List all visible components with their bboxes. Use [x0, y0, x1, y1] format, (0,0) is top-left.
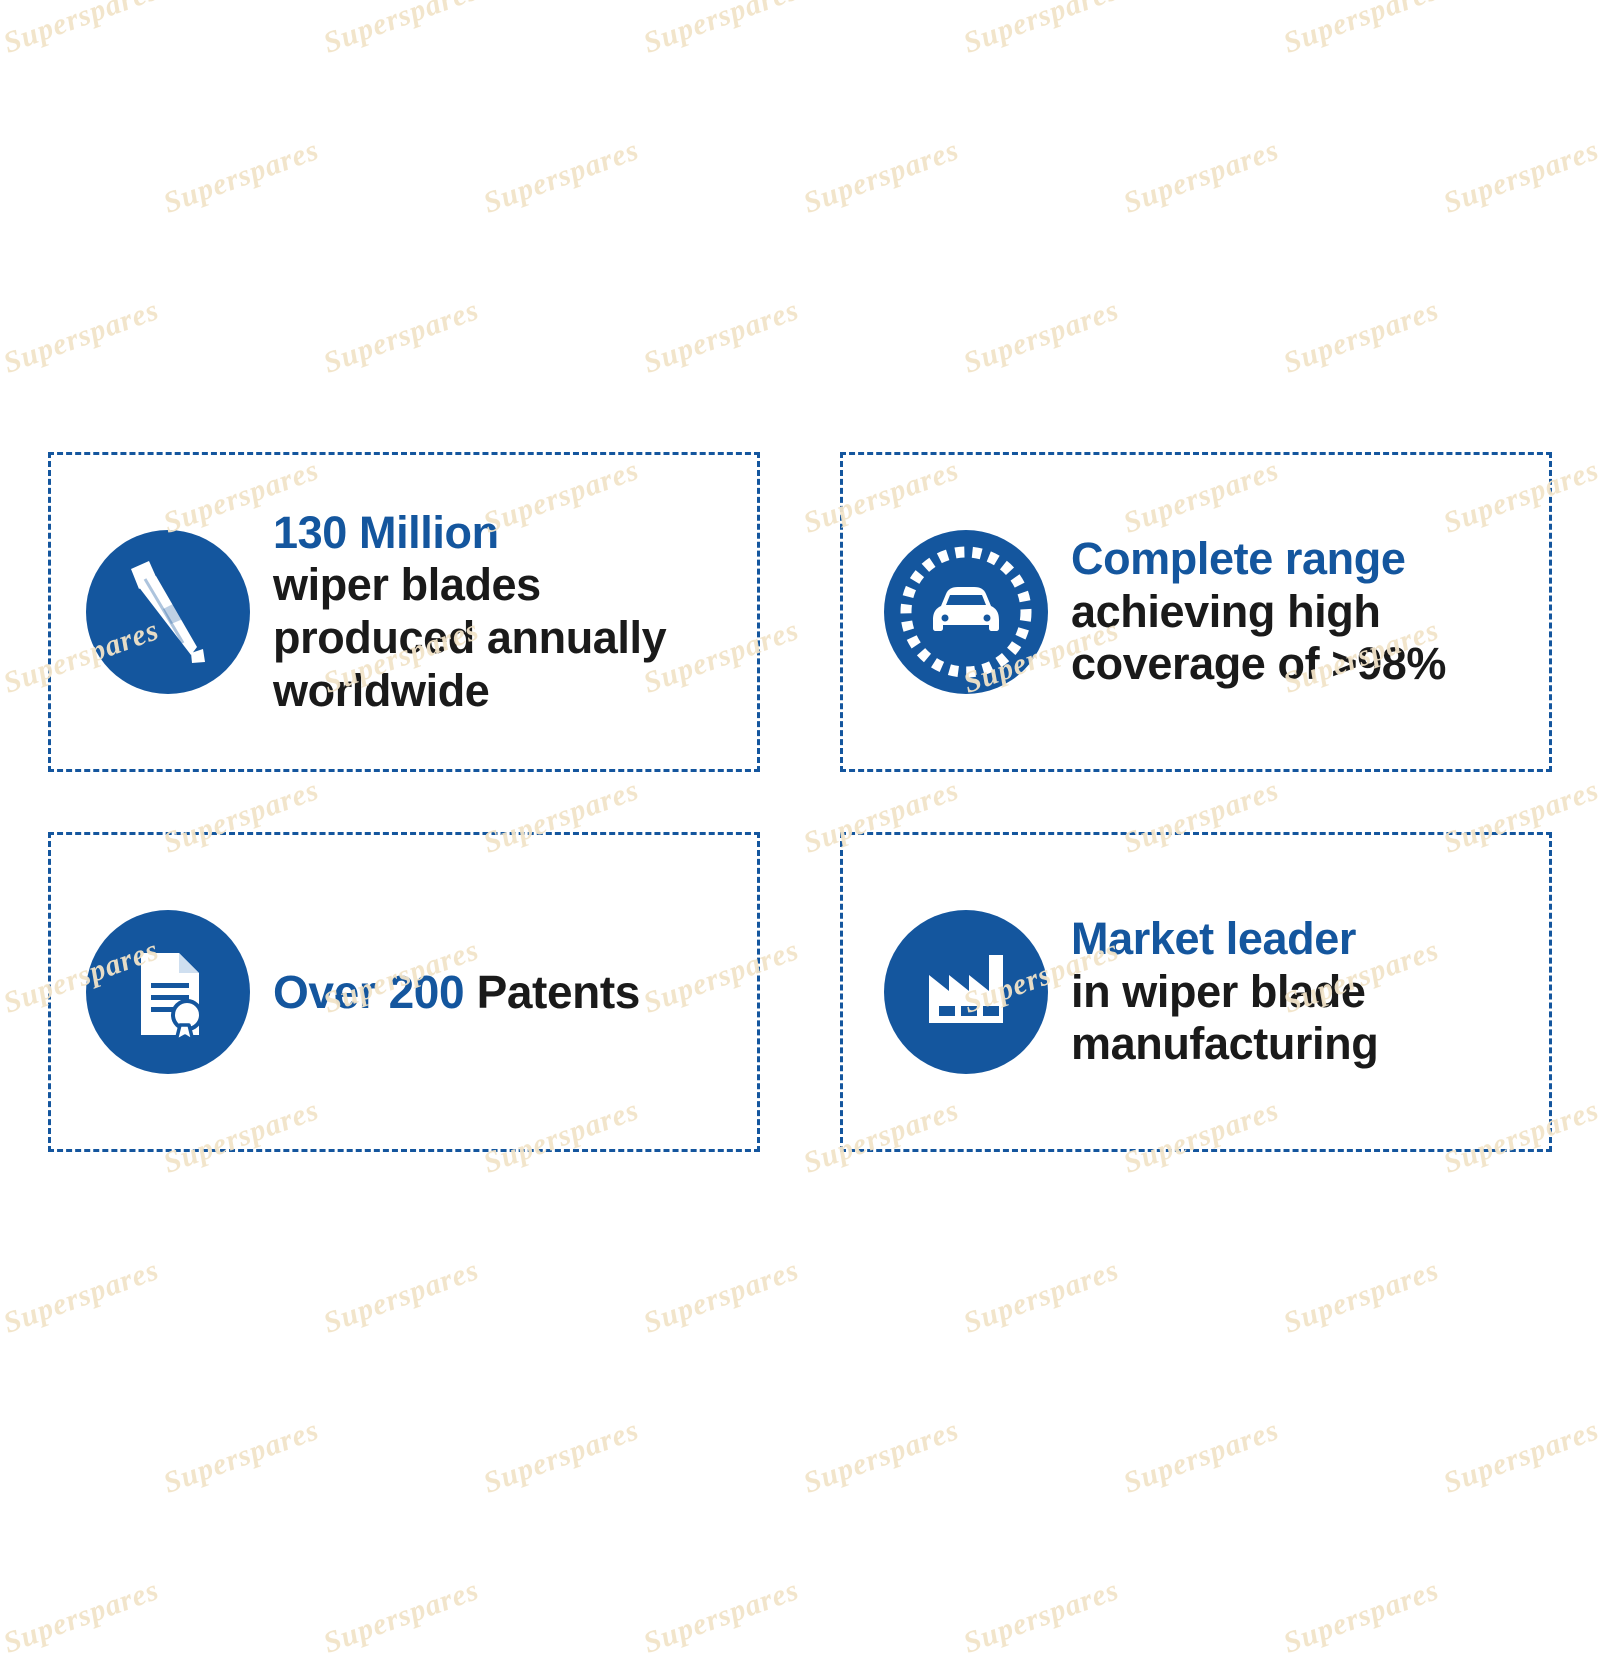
feature-line-1: in wiper blade — [1071, 966, 1365, 1017]
watermark-text: Superspares — [319, 0, 484, 61]
watermark-text: Superspares — [639, 0, 804, 61]
watermark-text: Superspares — [1279, 0, 1444, 61]
watermark-text: Superspares — [0, 1253, 164, 1341]
feature-card-grid: 130 Million wiper blades produced annual… — [48, 452, 1552, 1152]
watermark-text: Superspares — [0, 1093, 4, 1181]
watermark-text: Superspares — [639, 1573, 804, 1661]
watermark-text: Superspares — [1279, 1573, 1444, 1661]
watermark-text: Superspares — [0, 133, 4, 221]
feature-card-text: Complete range achieving high coverage o… — [1055, 533, 1531, 691]
feature-card-patents: Over 200 Patents — [48, 832, 760, 1152]
watermark-text: Superspares — [1119, 133, 1284, 221]
watermark-text: Superspares — [159, 133, 324, 221]
wiper-blade-icon — [79, 523, 257, 701]
feature-card-text: Over 200 Patents — [257, 966, 739, 1019]
watermark-text: Superspares — [1119, 1413, 1284, 1501]
watermark-text: Superspares — [959, 0, 1124, 61]
feature-line-2: manufacturing — [1071, 1018, 1378, 1069]
patent-document-icon — [79, 903, 257, 1081]
feature-highlight: Over 200 — [273, 966, 464, 1018]
feature-card-text: 130 Million wiper blades produced annual… — [257, 507, 739, 718]
watermark-text: Superspares — [0, 0, 164, 61]
watermark-text: Superspares — [639, 293, 804, 381]
feature-line-2: coverage of >98% — [1071, 638, 1446, 689]
watermark-text: Superspares — [639, 1253, 804, 1341]
watermark-text: Superspares — [479, 1413, 644, 1501]
watermark-text: Superspares — [0, 1413, 4, 1501]
watermark-text: Superspares — [319, 1573, 484, 1661]
watermark-text: Superspares — [799, 133, 964, 221]
feature-card-text: Market leader in wiper blade manufacturi… — [1055, 913, 1531, 1071]
watermark-text: Superspares — [1439, 1413, 1600, 1501]
feature-highlight: 130 Million — [273, 507, 499, 558]
watermark-text: Superspares — [799, 1413, 964, 1501]
watermark-text: Superspares — [1439, 133, 1600, 221]
feature-line-3: worldwide — [273, 665, 489, 716]
feature-card-wiper-blades: 130 Million wiper blades produced annual… — [48, 452, 760, 772]
watermark-text: Superspares — [959, 293, 1124, 381]
feature-highlight: Market leader — [1071, 913, 1356, 964]
feature-line-1: Patents — [477, 966, 640, 1018]
watermark-text: Superspares — [0, 453, 4, 541]
feature-line-1: achieving high — [1071, 586, 1380, 637]
car-in-circle-icon — [877, 523, 1055, 701]
watermark-text: Superspares — [319, 1253, 484, 1341]
watermark-text: Superspares — [479, 133, 644, 221]
watermark-text: Superspares — [0, 773, 4, 861]
feature-line-2: produced annually — [273, 612, 666, 663]
feature-card-market-leader: Market leader in wiper blade manufacturi… — [840, 832, 1552, 1152]
feature-card-complete-range: Complete range achieving high coverage o… — [840, 452, 1552, 772]
watermark-text: Superspares — [1279, 293, 1444, 381]
watermark-text: Superspares — [959, 1573, 1124, 1661]
watermark-text: Superspares — [959, 1253, 1124, 1341]
watermark-text: Superspares — [0, 1573, 164, 1661]
feature-line-1: wiper blades — [273, 559, 541, 610]
watermark-text: Superspares — [1279, 1253, 1444, 1341]
watermark-text: Superspares — [159, 1413, 324, 1501]
factory-icon — [877, 903, 1055, 1081]
watermark-text: Superspares — [319, 293, 484, 381]
watermark-text: Superspares — [0, 293, 164, 381]
feature-highlight: Complete range — [1071, 533, 1405, 584]
